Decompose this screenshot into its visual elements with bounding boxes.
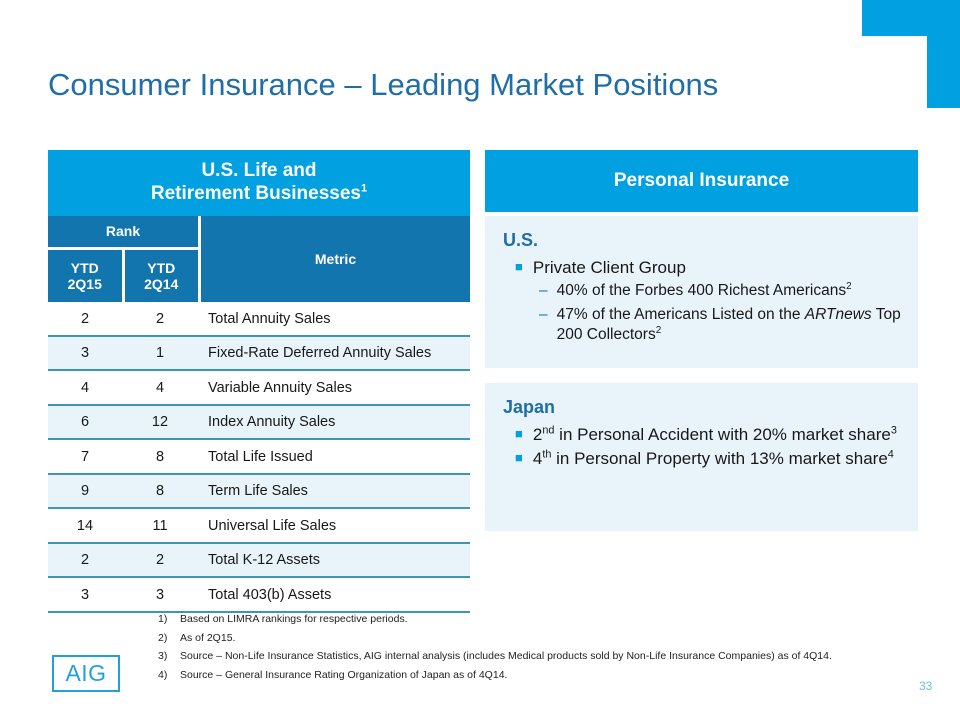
cell-metric: Term Life Sales	[198, 483, 470, 499]
japan-bullet-personal-property: ■ 4th in Personal Property with 13% mark…	[501, 448, 902, 469]
table-title: U.S. Life and Retirement Businesses1	[48, 150, 470, 216]
ytd-2q14-line1: YTD	[125, 260, 199, 277]
cell-ytd-2q15: 3	[48, 587, 122, 603]
table-row: 44Variable Annuity Sales	[48, 371, 470, 406]
footnote-item: 4)Source – General Insurance Rating Orga…	[158, 668, 888, 684]
cell-ytd-2q14: 12	[122, 414, 198, 430]
cell-ytd-2q14: 3	[122, 587, 198, 603]
cell-ytd-2q15: 7	[48, 449, 122, 465]
footnotes: 1)Based on LIMRA rankings for respective…	[158, 612, 888, 686]
cell-metric: Variable Annuity Sales	[198, 380, 470, 396]
table-row: 1411Universal Life Sales	[48, 509, 470, 544]
table-title-footnote-marker: 1	[361, 183, 367, 195]
us-section: U.S. ■ Private Client Group – 40% of the…	[485, 216, 918, 368]
footnote-text: Source – Non-Life Insurance Statistics, …	[180, 649, 888, 665]
table-row: 22Total K-12 Assets	[48, 544, 470, 579]
table-row: 98Term Life Sales	[48, 475, 470, 510]
footnote-text: Source – General Insurance Rating Organi…	[180, 668, 888, 684]
column-header-rank: Rank	[48, 216, 198, 250]
ytd-2q15-line2: 2Q15	[48, 276, 122, 293]
footnote-text: As of 2Q15.	[180, 631, 888, 647]
us-region-label: U.S.	[503, 230, 902, 251]
footnote-number: 3)	[158, 649, 180, 665]
cell-ytd-2q15: 14	[48, 518, 122, 534]
footnote-text: Based on LIMRA rankings for respective p…	[180, 612, 888, 628]
us-bullet-label: Private Client Group	[533, 257, 686, 278]
footnote-item: 1)Based on LIMRA rankings for respective…	[158, 612, 888, 628]
cell-ytd-2q14: 1	[122, 345, 198, 361]
cell-ytd-2q15: 2	[48, 552, 122, 568]
cell-ytd-2q15: 4	[48, 380, 122, 396]
cell-metric: Total K-12 Assets	[198, 552, 470, 568]
us-sub-bullet-forbes: – 40% of the Forbes 400 Richest American…	[501, 281, 902, 301]
table-row: 22Total Annuity Sales	[48, 302, 470, 337]
footnote-number: 1)	[158, 612, 180, 628]
page-title: Consumer Insurance – Leading Market Posi…	[48, 67, 718, 103]
cell-ytd-2q14: 11	[122, 518, 198, 534]
personal-insurance-panel: Personal Insurance U.S. ■ Private Client…	[485, 150, 918, 531]
cell-ytd-2q14: 8	[122, 483, 198, 499]
column-header-ytd-2q15: YTD 2Q15	[48, 250, 122, 302]
table-row: 612Index Annuity Sales	[48, 406, 470, 441]
aig-logo: AIG	[52, 655, 120, 692]
cell-ytd-2q14: 4	[122, 380, 198, 396]
table-body: 22Total Annuity Sales31Fixed-Rate Deferr…	[48, 302, 470, 613]
japan-bullet-personal-property-label: 4th in Personal Property with 13% market…	[533, 448, 894, 469]
column-header-ytd-2q14: YTD 2Q14	[125, 250, 199, 302]
dash-bullet-icon: –	[539, 281, 548, 301]
ytd-2q15-line1: YTD	[48, 260, 122, 277]
square-bullet-icon: ■	[515, 426, 523, 445]
cell-metric: Index Annuity Sales	[198, 414, 470, 430]
us-life-retirement-table: U.S. Life and Retirement Businesses1 Ran…	[48, 150, 470, 613]
table-row: 78Total Life Issued	[48, 440, 470, 475]
table-header-block: Rank YTD 2Q15 YTD 2Q14 Metric	[48, 216, 470, 302]
japan-bullet-personal-accident: ■ 2nd in Personal Accident with 20% mark…	[501, 424, 902, 445]
cell-metric: Total 403(b) Assets	[198, 587, 470, 603]
cell-ytd-2q14: 2	[122, 311, 198, 327]
cell-metric: Total Annuity Sales	[198, 311, 470, 327]
cell-ytd-2q15: 6	[48, 414, 122, 430]
japan-bullet-personal-accident-label: 2nd in Personal Accident with 20% market…	[533, 424, 897, 445]
table-row: 33Total 403(b) Assets	[48, 578, 470, 613]
cell-metric: Total Life Issued	[198, 449, 470, 465]
footnote-item: 2)As of 2Q15.	[158, 631, 888, 647]
footnote-item: 3)Source – Non-Life Insurance Statistics…	[158, 649, 888, 665]
footnote-number: 4)	[158, 668, 180, 684]
page-number: 33	[919, 679, 932, 693]
rank-subcolumn-row: YTD 2Q15 YTD 2Q14	[48, 250, 198, 302]
cell-metric: Fixed-Rate Deferred Annuity Sales	[198, 345, 470, 361]
rank-column-group: Rank YTD 2Q15 YTD 2Q14	[48, 216, 198, 302]
cell-metric: Universal Life Sales	[198, 518, 470, 534]
ytd-2q14-line2: 2Q14	[125, 276, 199, 293]
column-header-metric: Metric	[201, 216, 470, 302]
panel-title: Personal Insurance	[485, 150, 918, 212]
footnote-number: 2)	[158, 631, 180, 647]
us-sub-bullet-artnews: – 47% of the Americans Listed on the ART…	[501, 305, 902, 345]
japan-region-label: Japan	[503, 397, 902, 418]
us-sub-bullet-forbes-label: 40% of the Forbes 400 Richest Americans2	[557, 281, 852, 301]
corner-decoration-vertical	[927, 0, 960, 108]
cell-ytd-2q14: 8	[122, 449, 198, 465]
us-bullet-private-client-group: ■ Private Client Group	[501, 257, 902, 278]
us-sub-bullet-artnews-label: 47% of the Americans Listed on the ARTne…	[557, 305, 902, 345]
table-title-line1: U.S. Life and	[201, 160, 316, 181]
square-bullet-icon: ■	[515, 450, 523, 469]
cell-ytd-2q15: 2	[48, 311, 122, 327]
japan-section: Japan ■ 2nd in Personal Accident with 20…	[485, 383, 918, 531]
table-row: 31Fixed-Rate Deferred Annuity Sales	[48, 337, 470, 372]
cell-ytd-2q15: 3	[48, 345, 122, 361]
square-bullet-icon: ■	[515, 259, 523, 278]
dash-bullet-icon: –	[539, 305, 548, 345]
cell-ytd-2q15: 9	[48, 483, 122, 499]
cell-ytd-2q14: 2	[122, 552, 198, 568]
table-title-line2: Retirement Businesses	[151, 183, 361, 204]
